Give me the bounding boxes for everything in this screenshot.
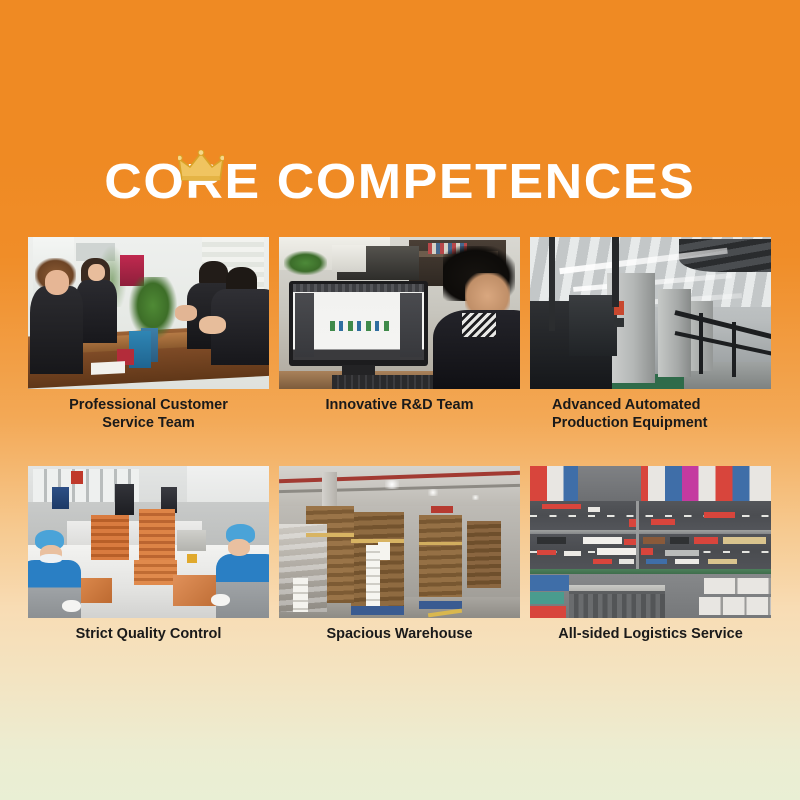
competence-card-professional-customer-service-team[interactable]: Professional Customer Service Team [28,237,269,432]
caption-all-sided-logistics-service: All-sided Logistics Service [530,618,771,643]
competence-card-spacious-warehouse[interactable]: Spacious Warehouse [279,466,520,643]
caption-professional-customer-service-team: Professional Customer Service Team [28,389,269,432]
caption-advanced-automated-production-equipment: Advanced Automated Production Equipment [530,389,771,432]
crown-icon [178,150,224,184]
competence-card-advanced-automated-production-equipment[interactable]: Advanced Automated Production Equipment [530,237,771,432]
photo-innovative-rd-team [279,237,520,389]
photo-strict-quality-control [28,466,269,618]
photo-professional-customer-service-team [28,237,269,389]
photo-advanced-automated-production-equipment [530,237,771,389]
caption-spacious-warehouse: Spacious Warehouse [279,618,520,643]
competences-grid: Professional Customer Service Team Innov… [28,237,772,643]
title-block: CORE COMPETENCES [0,150,800,214]
core-competences-banner: CORE COMPETENCES Profess [0,0,800,800]
photo-spacious-warehouse [279,466,520,618]
caption-strict-quality-control: Strict Quality Control [28,618,269,643]
grid-row-top: Professional Customer Service Team Innov… [28,237,772,432]
photo-all-sided-logistics-service [530,466,771,618]
competence-card-innovative-rd-team[interactable]: Innovative R&D Team [279,237,520,432]
competence-card-all-sided-logistics-service[interactable]: All-sided Logistics Service [530,466,771,643]
caption-innovative-rd-team: Innovative R&D Team [279,389,520,414]
grid-row-bottom: Strict Quality Control Spacious Wareho [28,466,772,643]
competence-card-strict-quality-control[interactable]: Strict Quality Control [28,466,269,643]
